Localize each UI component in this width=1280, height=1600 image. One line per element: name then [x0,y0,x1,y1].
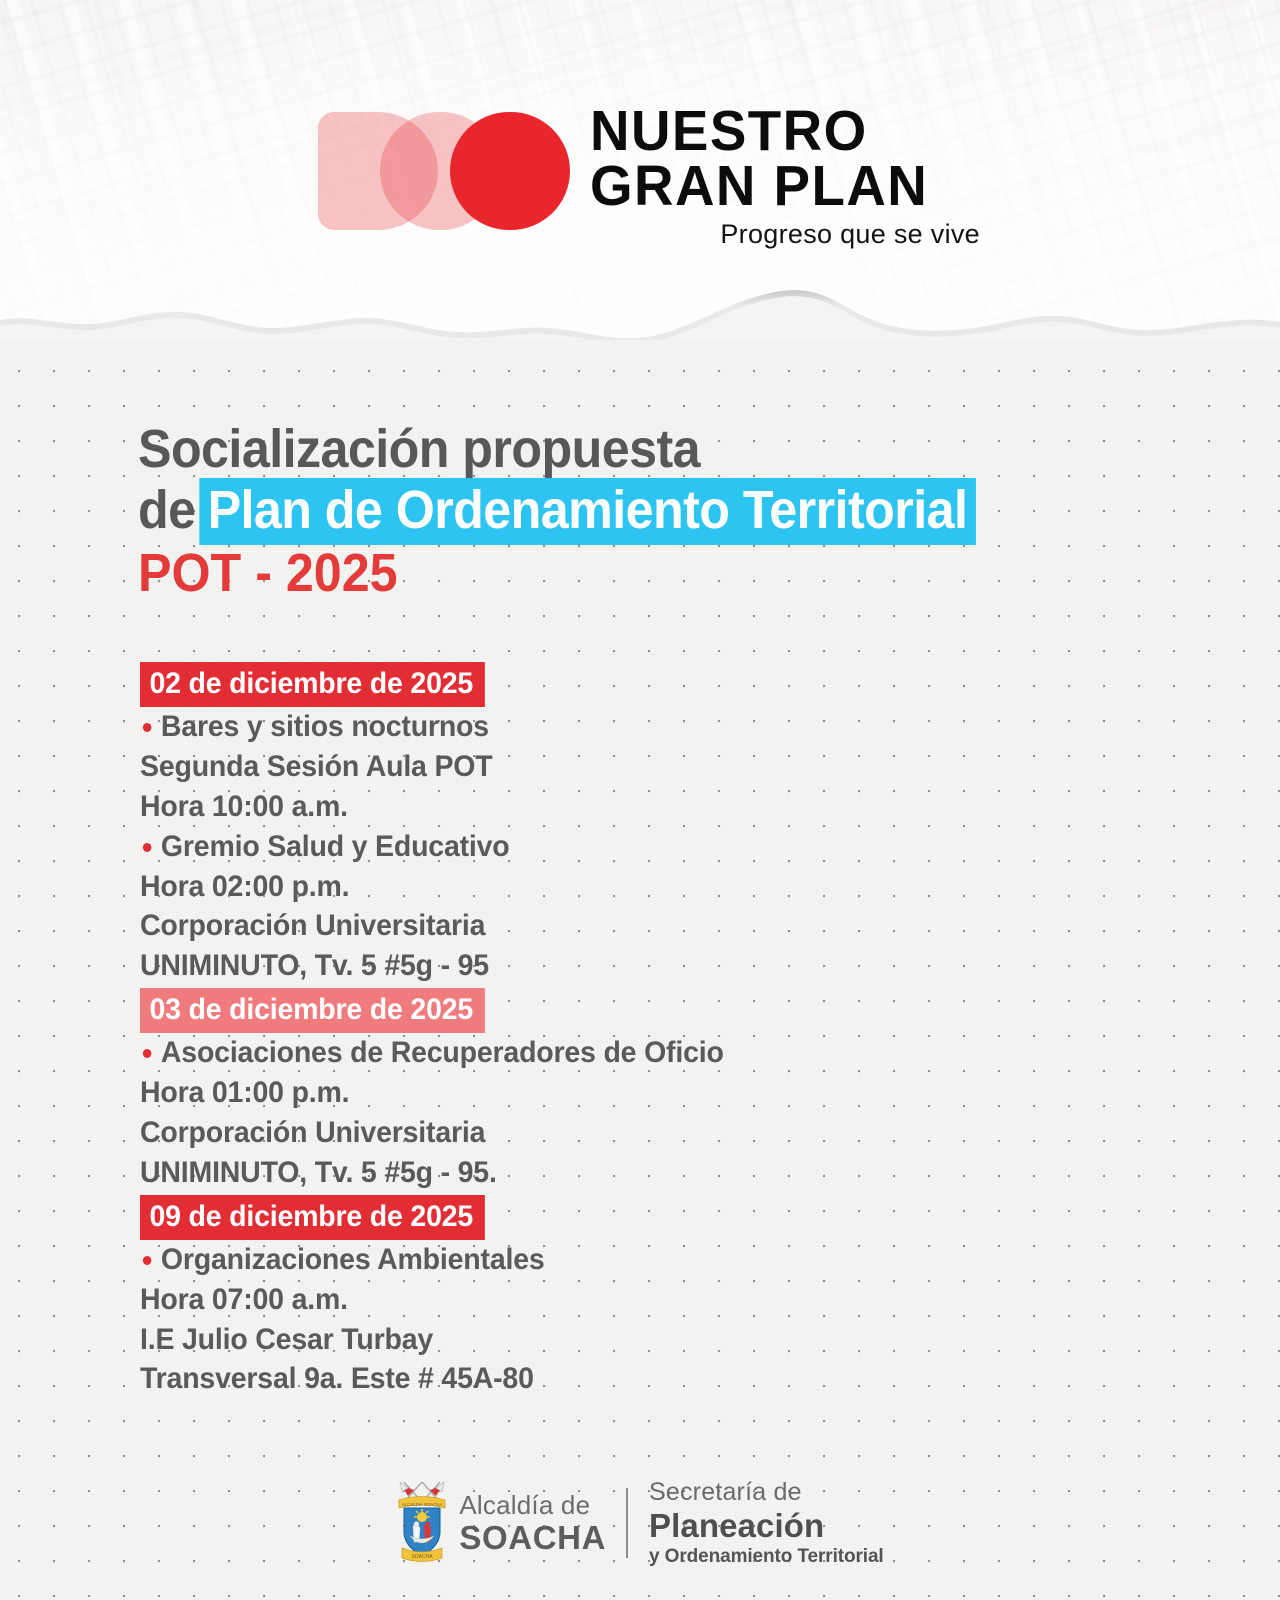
logo-wordmark: NUESTRO GRAN PLAN Progreso que se vive [590,104,980,250]
svg-text:ALCALDIA SOACHA: ALCALDIA SOACHA [402,1502,443,1507]
logo-tagline: Progreso que se vive [590,219,980,250]
schedule-entry-detail: UNIMINUTO, Tv. 5 #5g - 95. [140,1153,1071,1193]
logo-mark-3-icon [450,112,570,230]
title-line-3: POT - 2025 [138,542,1077,606]
page-title: Socialización propuesta dePlan de Ordena… [138,418,1148,606]
alcaldia-wordmark: Alcaldía de SOACHA [459,1492,606,1554]
schedule-entry-detail: UNIMINUTO, Tv. 5 #5g - 95 [140,946,1071,986]
schedule-entry-title: Organizaciones Ambientales [140,1240,1071,1280]
secretaria-line-2: Planeación [649,1509,884,1542]
schedule-entry-detail: Segunda Sesión Aula POT [140,747,1071,787]
svg-text:SOACHA: SOACHA [412,1554,434,1560]
date-badge: 03 de diciembre de 2025 [140,988,484,1033]
footer-divider [626,1488,628,1558]
schedule-entry-detail: Transversal 9a. Este # 45A-80 [140,1359,1071,1399]
title-line-2-highlight: Plan de Ordenamiento Territorial [199,478,976,545]
schedule-group: 09 de diciembre de 2025Organizaciones Am… [140,1195,1120,1400]
schedule-entry-title: Bares y sitios nocturnos [140,707,1071,747]
title-line-2: dePlan de Ordenamiento Territorial [138,479,1077,543]
soacha-coat-of-arms-icon: ALCALDIA SOACHA [396,1480,448,1566]
alcaldia-bottom-label: SOACHA [459,1521,606,1554]
date-badge: 09 de diciembre de 2025 [140,1195,484,1240]
schedule-entry-detail: Corporación Universitaria [140,906,1071,946]
schedule-entry-detail: I.E Julio Cesar Turbay [140,1320,1071,1360]
schedule-group: 02 de diciembre de 2025Bares y sitios no… [140,662,1120,986]
logo-line-1: NUESTRO [590,104,964,159]
schedule-entry-detail: Hora 02:00 p.m. [140,867,1071,907]
secretaria-line-3: y Ordenamiento Territorial [649,1547,884,1566]
nuestro-gran-plan-logo: NUESTRO GRAN PLAN Progreso que se vive [318,104,978,269]
schedule-entry-detail: Hora 10:00 a.m. [140,787,1071,827]
secretaria-wordmark: Secretaría de Planeación y Ordenamiento … [649,1480,884,1566]
schedule-list: 02 de diciembre de 2025Bares y sitios no… [140,662,1120,1399]
schedule-entry-detail: Hora 07:00 a.m. [140,1280,1071,1320]
schedule-group: 03 de diciembre de 2025Asociaciones de R… [140,988,1120,1193]
poster-root: NUESTRO GRAN PLAN Progreso que se vive S… [0,0,1280,1600]
schedule-entry-detail: Hora 01:00 p.m. [140,1073,1071,1113]
schedule-entry-title: Gremio Salud y Educativo [140,827,1071,867]
secretaria-line-1: Secretaría de [649,1480,884,1505]
footer: ALCALDIA SOACHA [0,1468,1280,1578]
date-badge: 02 de diciembre de 2025 [140,662,484,707]
title-line-1: Socialización propuesta [138,418,1077,482]
schedule-entry-title: Asociaciones de Recuperadores de Oficio [140,1033,1071,1073]
schedule-entry-detail: Corporación Universitaria [140,1113,1071,1153]
logo-line-2: GRAN PLAN [590,159,964,214]
alcaldia-top-label: Alcaldía de [459,1492,606,1518]
title-line-2-prefix: de [138,480,196,540]
logo-marks-icon [318,112,568,230]
header-hero: NUESTRO GRAN PLAN Progreso que se vive [0,0,1280,368]
